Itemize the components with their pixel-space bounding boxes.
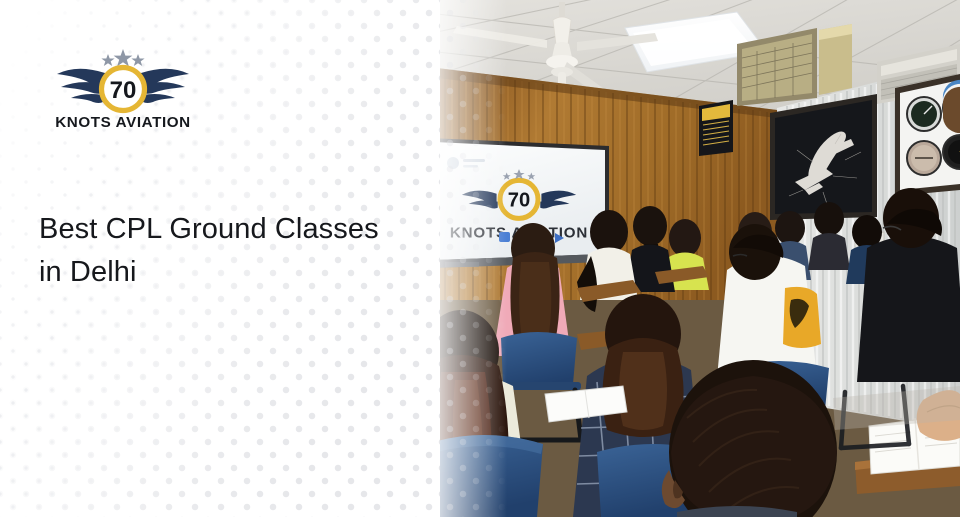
page-title: Best CPL Ground Classes in Delhi — [39, 208, 419, 294]
logo-badge-number: 70 — [110, 77, 137, 104]
70-knots-aviation-logo: 70 KNOTS AVIATION — [48, 46, 198, 132]
headline-line-1: Best CPL Ground Classes — [39, 213, 379, 245]
promo-banner: 70 KNOTS AVIATION — [0, 0, 960, 517]
headline-line-2: in Delhi — [39, 256, 137, 288]
classroom-photo: 70 KNOTS AVIATION — [437, 0, 960, 517]
svg-text:70: 70 — [508, 190, 530, 212]
left-content-panel: 70 KNOTS AVIATION Best CPL Ground Classe… — [0, 0, 440, 517]
logo-wordmark: KNOTS AVIATION — [55, 114, 191, 131]
